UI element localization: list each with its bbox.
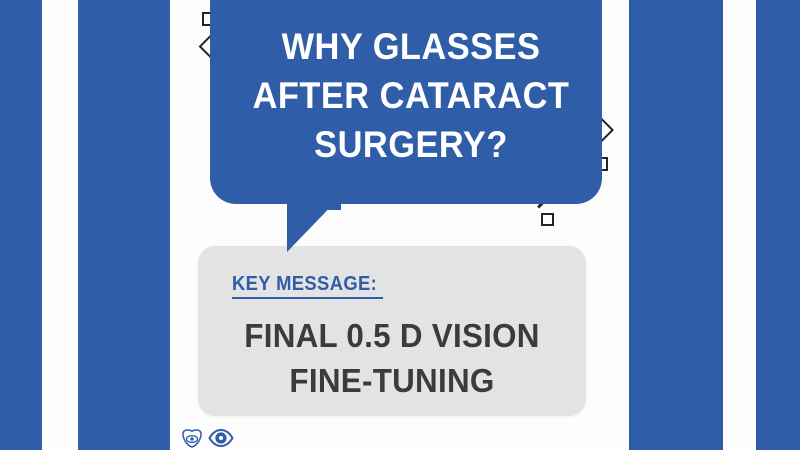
page-title-line-2: AFTER CATARACT bbox=[248, 71, 574, 120]
key-message-line-1: FINAL 0.5 D VISION bbox=[219, 313, 565, 358]
footer-icon-group bbox=[180, 428, 234, 450]
key-message-label: KEY MESSAGE: bbox=[232, 273, 377, 296]
background-stripe-right-2 bbox=[756, 0, 800, 450]
page-title: WHY GLASSES AFTER CATARACT SURGERY? bbox=[248, 22, 574, 169]
background-stripe-right-1 bbox=[629, 0, 723, 450]
key-message-text: FINAL 0.5 D VISION FINE-TUNING bbox=[219, 313, 565, 403]
page-title-line-1: WHY GLASSES bbox=[248, 22, 574, 71]
speech-bubble-tail bbox=[287, 196, 341, 252]
eye-in-shield-icon bbox=[180, 428, 204, 450]
background-stripe-left-2 bbox=[78, 0, 170, 450]
key-message-underline bbox=[232, 297, 383, 299]
poster-canvas: ??? WHY GLASSES AFTER CATARACT SURGERY? … bbox=[0, 0, 800, 450]
key-message-line-2: FINE-TUNING bbox=[219, 358, 565, 403]
page-title-line-3: SURGERY? bbox=[248, 120, 574, 169]
eye-icon bbox=[208, 428, 234, 450]
background-stripe-left-1 bbox=[0, 0, 42, 450]
